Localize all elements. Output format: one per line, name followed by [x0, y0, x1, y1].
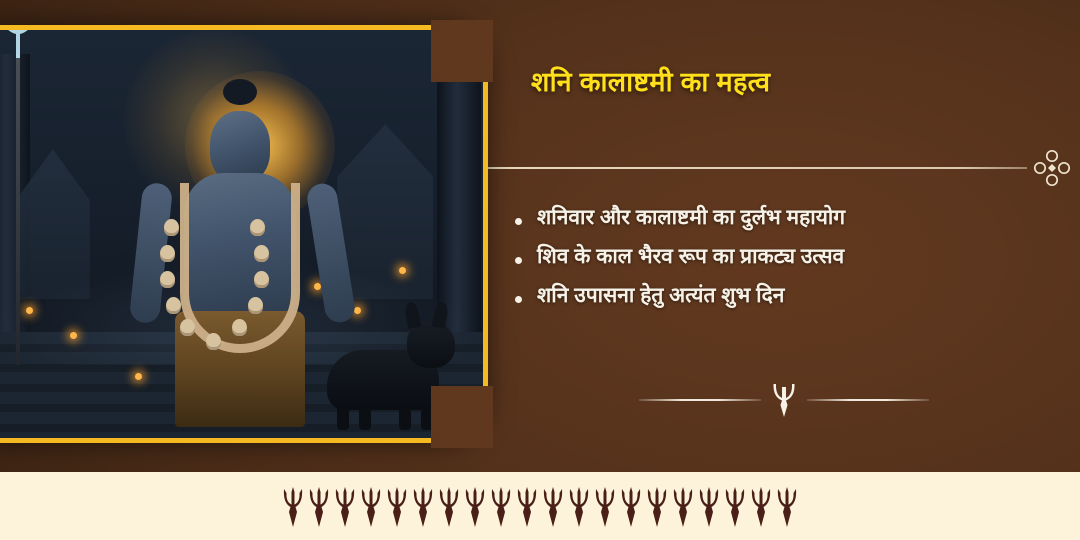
list-item-label: शनि उपासना हेतु अत्यंत शुभ दिन [537, 285, 784, 306]
trishul-icon [541, 487, 565, 527]
skull-bead-icon [254, 271, 269, 288]
artwork-illustration [0, 30, 483, 438]
trishul-icon [645, 487, 669, 527]
trishul-icon [489, 487, 513, 527]
poster-root: शनि कालाष्टमी का महत्व शनिवार और कालाष्ट… [0, 0, 1080, 540]
highlights-list: शनिवार और कालाष्टमी का दुर्लभ महायोग शिव… [515, 198, 1055, 315]
skull-bead-icon [250, 219, 265, 236]
skull-bead-icon [248, 297, 263, 314]
list-item-label: शनिवार और कालाष्टमी का दुर्लभ महायोग [537, 207, 845, 228]
trishul-icon [771, 383, 797, 417]
artwork-frame [0, 25, 488, 443]
skull-bead-icon [206, 333, 221, 350]
skull-bead-icon [254, 245, 269, 262]
trishul-icon [775, 487, 799, 527]
frame-notch-top-right [431, 20, 493, 82]
divider-line-right [807, 399, 929, 401]
trishul-icon [0, 25, 42, 58]
page-title: शनि कालाष्टमी का महत्व [531, 62, 1031, 99]
dog-head-decor [407, 322, 455, 368]
trishul-icon [619, 487, 643, 527]
artwork-panel [0, 25, 488, 443]
list-item: शिव के काल भैरव रूप का प्राकट्य उत्सव [515, 237, 1055, 276]
skull-bead-icon [180, 319, 195, 336]
list-item: शनि उपासना हेतु अत्यंत शुभ दिन [515, 276, 1055, 315]
trishul-icon [281, 487, 305, 527]
trishul-icon [723, 487, 747, 527]
deity-figure-decor [140, 87, 340, 430]
oil-lamp-icon [399, 267, 406, 274]
skull-bead-icon [164, 219, 179, 236]
trishul-icon [307, 487, 331, 527]
trishul-staff-decor [16, 54, 20, 364]
dog-leg-decor [337, 404, 349, 430]
deity-topknot-decor [223, 79, 257, 105]
bullet-dot-icon [515, 257, 522, 264]
dog-leg-decor [359, 404, 371, 430]
skull-bead-icon [232, 319, 247, 336]
trishul-icon [359, 487, 383, 527]
dog-ear-decor [432, 301, 449, 329]
trishul-icon [567, 487, 591, 527]
trishul-icon [749, 487, 773, 527]
divider-line-left [639, 399, 761, 401]
footer-divider [639, 383, 929, 417]
trishul-icon [333, 487, 357, 527]
bullet-dot-icon [515, 218, 522, 225]
trishul-icon [411, 487, 435, 527]
dog-leg-decor [399, 404, 411, 430]
skull-bead-icon [166, 297, 181, 314]
title-divider [487, 148, 1075, 188]
bullet-dot-icon [515, 296, 522, 303]
trishul-icon [515, 487, 539, 527]
frame-notch-bottom-right [431, 386, 493, 448]
list-item-label: शिव के काल भैरव रूप का प्राकट्य उत्सव [537, 246, 844, 267]
trident-row [281, 487, 799, 527]
quatrefoil-knot-ornament-icon [1029, 148, 1075, 188]
divider-line [487, 167, 1027, 169]
content-column: शनि कालाष्टमी का महत्व शनिवार और कालाष्ट… [487, 0, 1080, 472]
trishul-icon [697, 487, 721, 527]
list-item: शनिवार और कालाष्टमी का दुर्लभ महायोग [515, 198, 1055, 237]
trishul-icon [593, 487, 617, 527]
trishul-icon [671, 487, 695, 527]
dog-ear-decor [404, 301, 421, 329]
trishul-icon [385, 487, 409, 527]
bottom-trident-band [0, 472, 1080, 540]
skull-bead-icon [160, 245, 175, 262]
trishul-icon [463, 487, 487, 527]
trishul-icon [437, 487, 461, 527]
skull-bead-icon [160, 271, 175, 288]
